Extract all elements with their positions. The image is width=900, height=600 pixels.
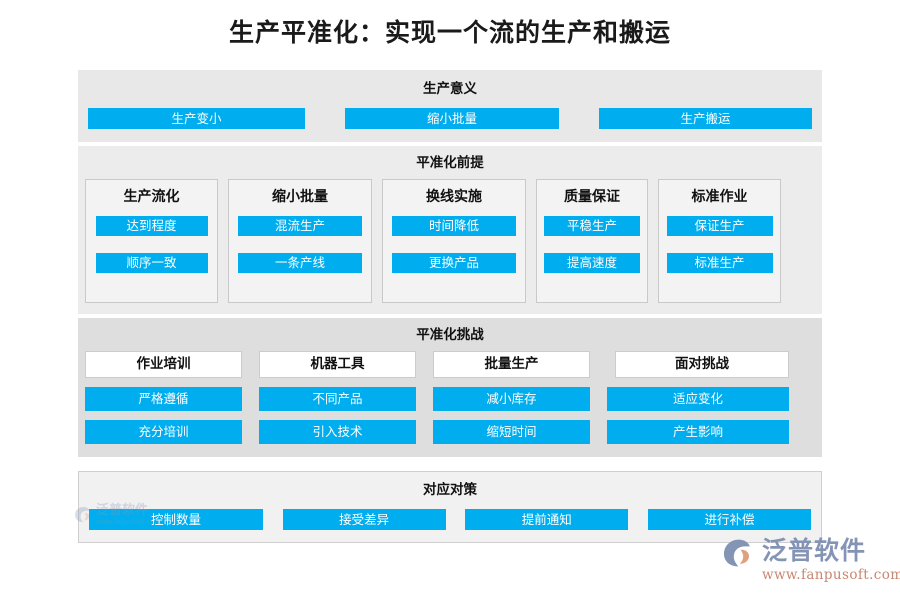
section-challenge: 平准化挑战 作业培训 机器工具 批量生产 面对挑战 严格遵循 不同产品 减小库存…	[78, 318, 822, 457]
premise-column-1-title: 生产流化	[86, 188, 217, 206]
premise-column-1-item-1[interactable]: 达到程度	[96, 216, 208, 236]
section-measures: 对应对策 控制数量 接受差异 提前通知 进行补偿	[78, 471, 822, 543]
measures-item-3[interactable]: 提前通知	[465, 509, 628, 530]
section-measures-title: 对应对策	[89, 483, 811, 497]
watermark-name: 泛普软件	[96, 503, 148, 519]
challenge-item-row-2: 充分培训 引入技术 缩短时间 产生影响	[85, 420, 815, 444]
challenge-column-1-title: 作业培训	[85, 351, 242, 378]
premise-column-4-item-2[interactable]: 提高速度	[544, 253, 640, 273]
premise-column-2-item-1[interactable]: 混流生产	[238, 216, 362, 236]
premise-column-5-item-2[interactable]: 标准生产	[667, 253, 773, 273]
section-challenge-title: 平准化挑战	[85, 328, 815, 342]
challenge-item-row-1: 严格遵循 不同产品 减小库存 适应变化	[85, 387, 815, 411]
premise-column-3-title: 换线实施	[383, 188, 525, 206]
measures-item-2[interactable]: 接受差异	[283, 509, 446, 530]
meaning-item-2[interactable]: 缩小批量	[345, 108, 559, 129]
premise-column-3-item-2[interactable]: 更换产品	[392, 253, 516, 273]
meaning-item-1[interactable]: 生产变小	[88, 108, 305, 129]
section-premise-columns: 生产流化 达到程度 顺序一致 缩小批量 混流生产 一条产线 换线实施 时间降低 …	[85, 179, 815, 303]
challenge-column-2-title: 机器工具	[259, 351, 416, 378]
challenge-column-4-item-2[interactable]: 产生影响	[607, 420, 789, 444]
premise-column-1: 生产流化 达到程度 顺序一致	[85, 179, 218, 303]
fanpu-logo-mark-icon	[74, 506, 93, 523]
section-premise-title: 平准化前提	[85, 156, 815, 170]
infographic-board: 生产意义 生产变小 缩小批量 生产搬运 平准化前提 生产流化 达到程度 顺序一致…	[78, 70, 822, 543]
brand-url: www.fanpusoft.com	[762, 567, 900, 583]
premise-column-2-item-2[interactable]: 一条产线	[238, 253, 362, 273]
challenge-column-1-item-1[interactable]: 严格遵循	[85, 387, 242, 411]
measures-item-4[interactable]: 进行补偿	[648, 509, 811, 530]
premise-column-5-item-1[interactable]: 保证生产	[667, 216, 773, 236]
challenge-column-2-item-2[interactable]: 引入技术	[259, 420, 416, 444]
premise-column-2: 缩小批量 混流生产 一条产线	[228, 179, 372, 303]
premise-column-5-title: 标准作业	[659, 188, 780, 206]
watermark-url: www.fanpusoft.com	[96, 518, 161, 526]
page-title: 生产平准化：实现一个流的生产和搬运	[0, 0, 900, 50]
brand-name: 泛普软件	[762, 536, 866, 566]
premise-column-2-title: 缩小批量	[229, 188, 371, 206]
premise-column-5: 标准作业 保证生产 标准生产	[658, 179, 781, 303]
section-meaning-title: 生产意义	[88, 82, 812, 96]
premise-column-4: 质量保证 平稳生产 提高速度	[536, 179, 648, 303]
challenge-column-4-title: 面对挑战	[615, 351, 789, 378]
challenge-column-3-title: 批量生产	[433, 351, 590, 378]
challenge-column-3-item-1[interactable]: 减小库存	[433, 387, 590, 411]
section-measures-items: 控制数量 接受差异 提前通知 进行补偿	[89, 509, 811, 530]
premise-column-1-item-2[interactable]: 顺序一致	[96, 253, 208, 273]
challenge-column-4-item-1[interactable]: 适应变化	[607, 387, 789, 411]
fanpu-logo-mark-icon	[722, 538, 756, 568]
section-challenge-grid: 作业培训 机器工具 批量生产 面对挑战 严格遵循 不同产品 减小库存 适应变化 …	[85, 351, 815, 444]
challenge-column-2-item-1[interactable]: 不同产品	[259, 387, 416, 411]
meaning-item-3[interactable]: 生产搬运	[599, 108, 812, 129]
premise-column-4-title: 质量保证	[537, 188, 647, 206]
premise-column-4-item-1[interactable]: 平稳生产	[544, 216, 640, 236]
section-premise: 平准化前提 生产流化 达到程度 顺序一致 缩小批量 混流生产 一条产线 换线实施…	[78, 146, 822, 314]
premise-column-3: 换线实施 时间降低 更换产品	[382, 179, 526, 303]
brand-logo: 泛普软件 www.fanpusoft.com	[722, 536, 882, 588]
section-meaning: 生产意义 生产变小 缩小批量 生产搬运	[78, 70, 822, 142]
challenge-column-1-item-2[interactable]: 充分培训	[85, 420, 242, 444]
watermark-logo: 泛普软件 www.fanpusoft.com	[74, 503, 166, 529]
section-meaning-items: 生产变小 缩小批量 生产搬运	[88, 108, 812, 129]
challenge-header-row: 作业培训 机器工具 批量生产 面对挑战	[85, 351, 815, 378]
premise-column-3-item-1[interactable]: 时间降低	[392, 216, 516, 236]
challenge-column-3-item-2[interactable]: 缩短时间	[433, 420, 590, 444]
